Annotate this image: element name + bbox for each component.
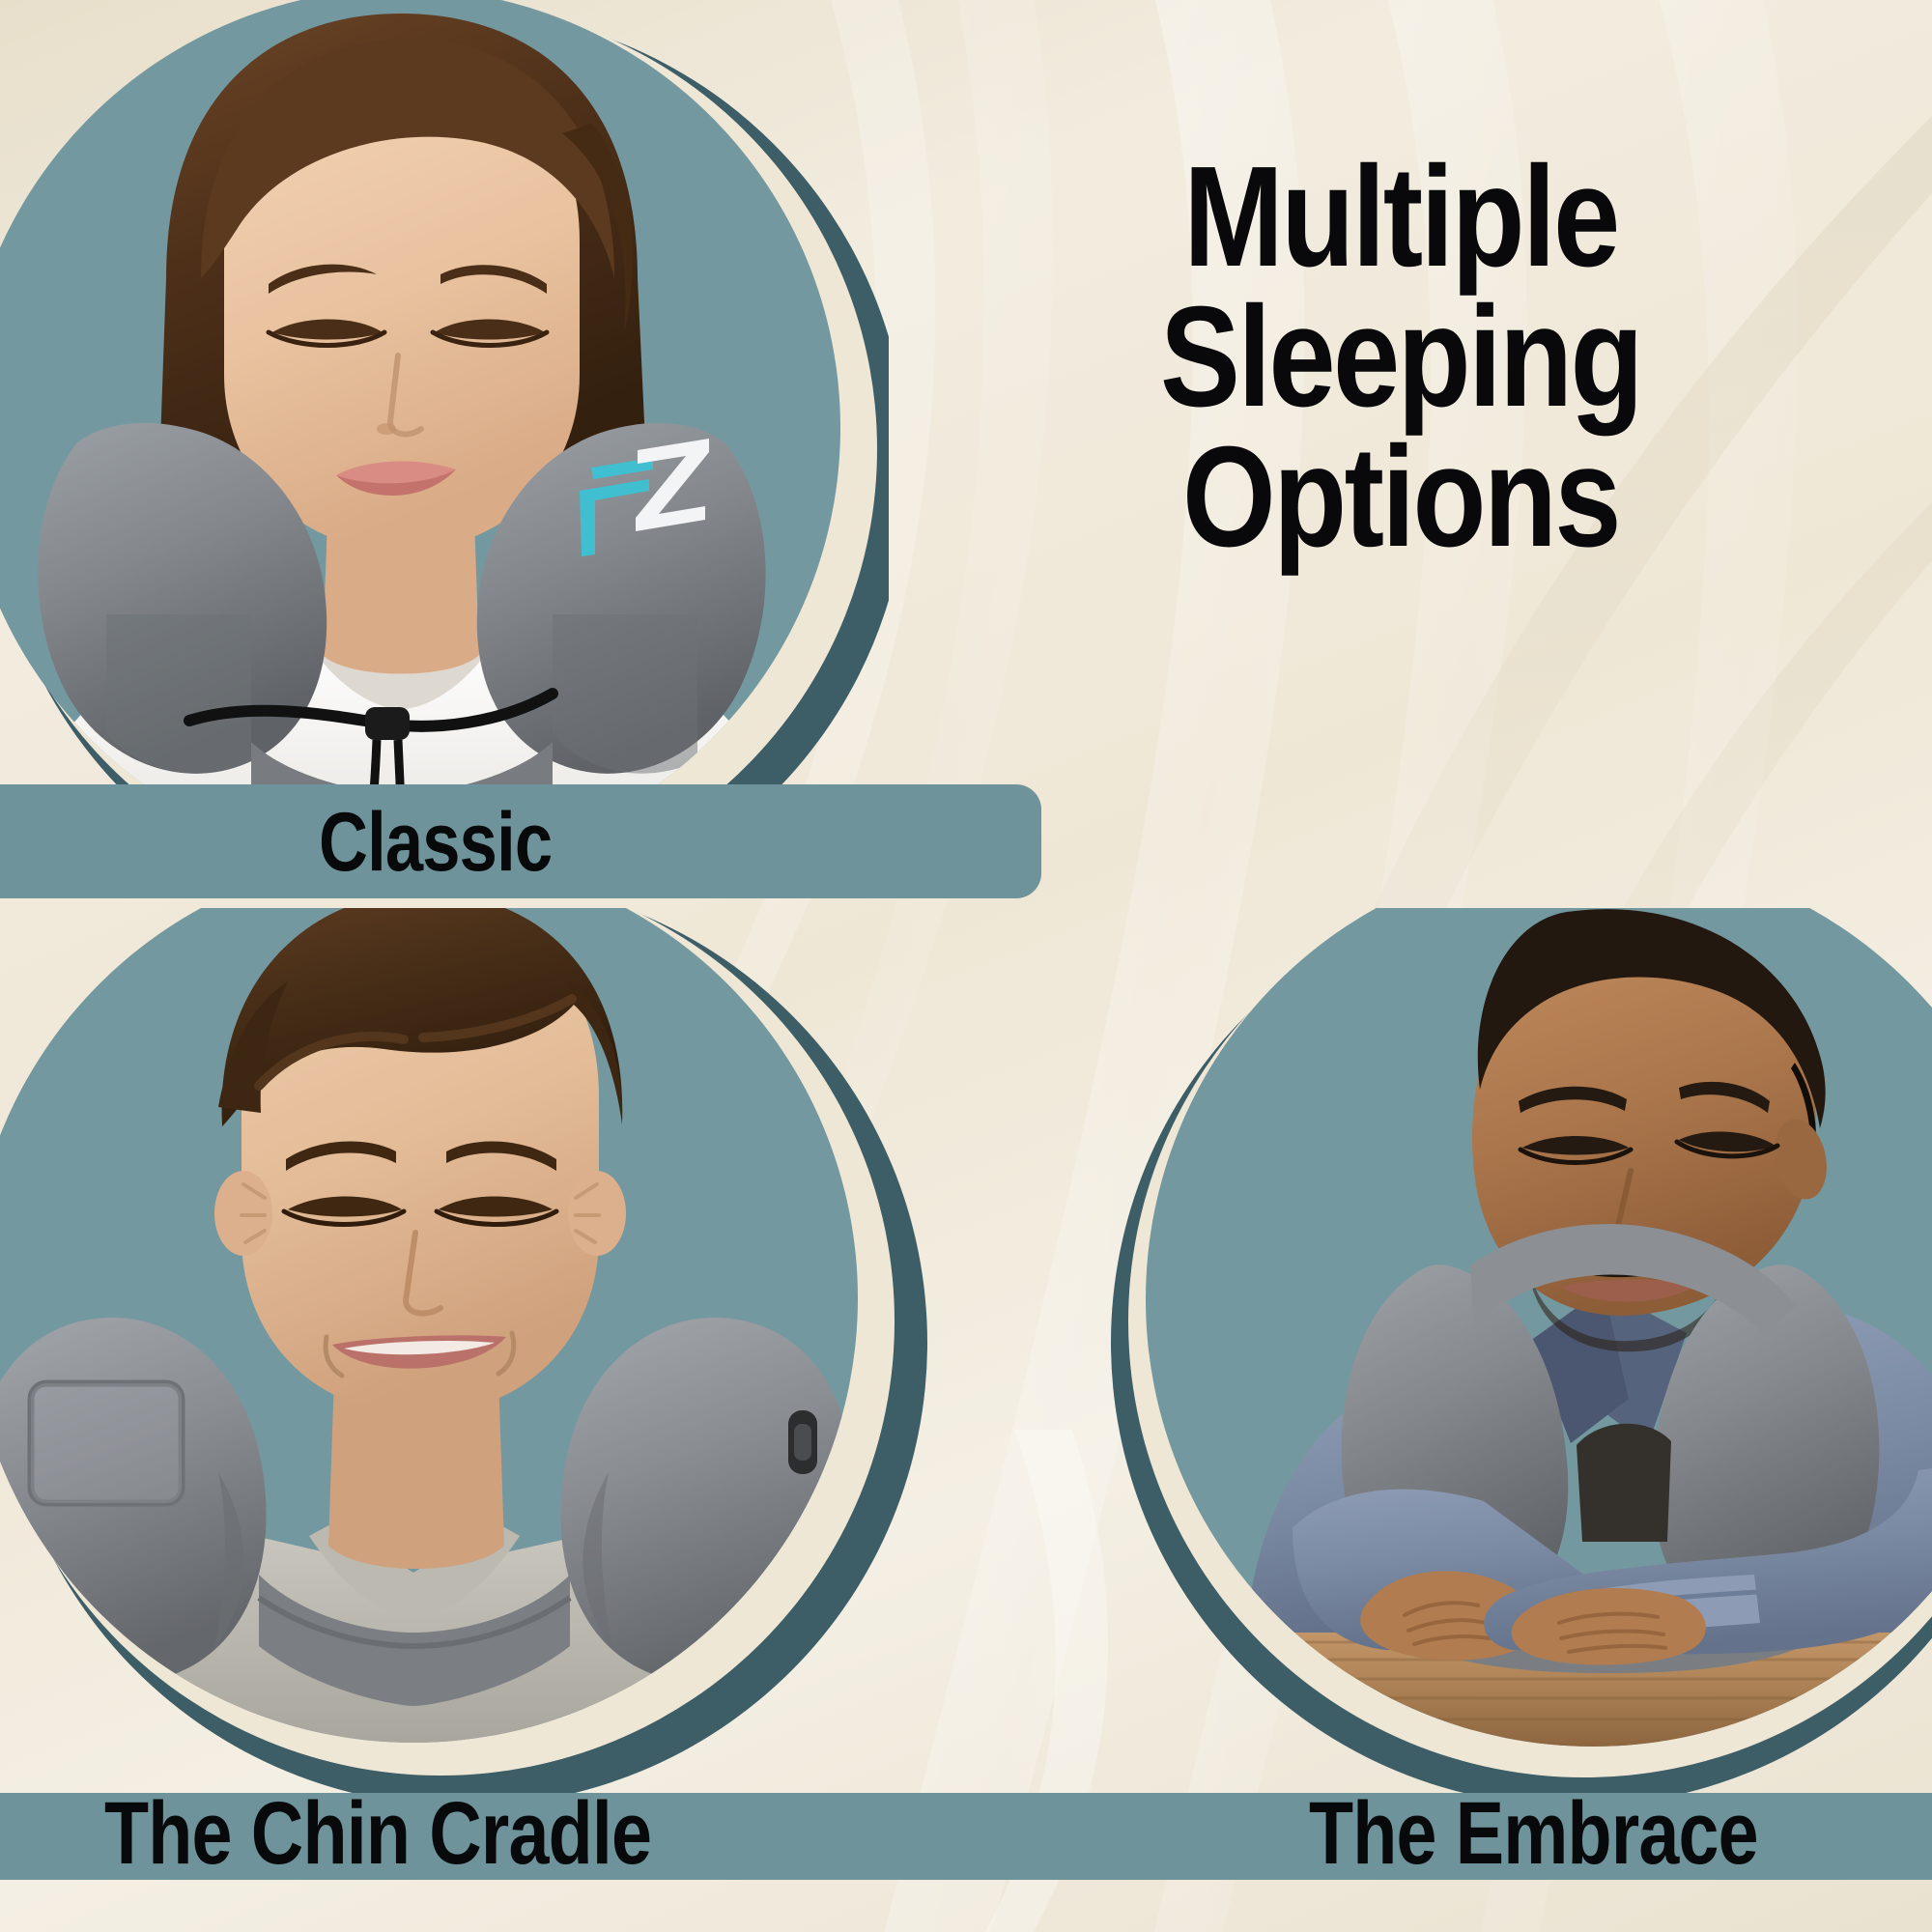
panel-classic-disc xyxy=(0,0,840,867)
panel-chin-cradle-photo xyxy=(0,908,858,1743)
panel-chin-cradle xyxy=(0,908,947,1806)
banner-classic-label: Classic xyxy=(319,800,552,885)
panel-classic-photo xyxy=(0,0,840,867)
page-title: Multiple Sleeping Options xyxy=(918,147,1884,567)
panel-embrace-photo xyxy=(1146,908,1932,1747)
headline-line-2: Sleeping xyxy=(995,287,1806,427)
infographic-canvas: Multiple Sleeping Options xyxy=(0,0,1932,1932)
banner-bottom-right-label: The Embrace xyxy=(1309,1787,1758,1880)
panel-embrace-disc xyxy=(1146,908,1932,1747)
banner-bottom-left-label: The Chin Cradle xyxy=(104,1787,651,1880)
panel-embrace xyxy=(985,908,1932,1806)
headline-line-3: Options xyxy=(995,427,1806,567)
headline-line-1: Multiple xyxy=(995,147,1806,287)
panel-classic xyxy=(0,0,889,889)
panel-chin-cradle-disc xyxy=(0,908,858,1743)
